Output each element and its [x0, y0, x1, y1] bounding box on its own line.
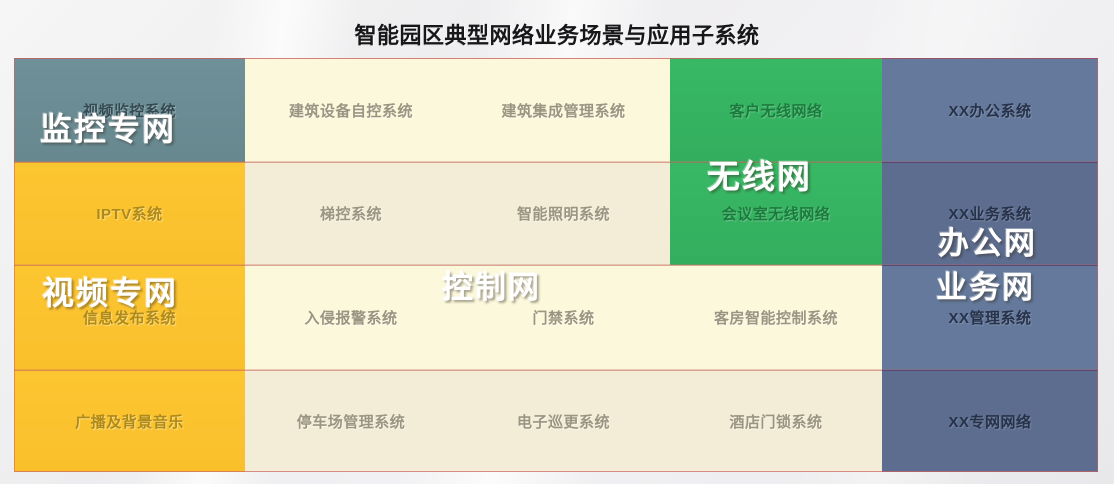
- matrix-cell: 梯控系统: [245, 162, 457, 265]
- matrix-cell: XX管理系统: [882, 265, 1098, 370]
- matrix-cell-label: XX业务系统: [948, 203, 1031, 224]
- matrix-cell: 客户无线网络: [670, 58, 882, 162]
- matrix-cell: 酒店门锁系统: [670, 370, 882, 472]
- matrix-cell-label: 广播及背景音乐: [75, 411, 184, 432]
- matrix-cell-label: 建筑集成管理系统: [501, 100, 625, 121]
- matrix-cell-label: 客房智能控制系统: [714, 307, 838, 328]
- matrix-cell-label: 客户无线网络: [729, 100, 822, 121]
- matrix-cell-label: 建筑设备自控系统: [289, 100, 413, 121]
- matrix-cell: 信息发布系统: [14, 265, 245, 370]
- matrix-cell: 电子巡更系统: [457, 370, 670, 472]
- subsystem-matrix: 视频监控系统建筑设备自控系统建筑集成管理系统客户无线网络XX办公系统IPTV系统…: [14, 58, 1098, 472]
- matrix-cell: XX办公系统: [882, 58, 1098, 162]
- matrix-cell-label: XX办公系统: [948, 100, 1031, 121]
- matrix-cell-label: 门禁系统: [532, 307, 594, 328]
- matrix-cell-label: 入侵报警系统: [304, 307, 397, 328]
- matrix-cell-label: 会议室无线网络: [722, 203, 831, 224]
- matrix-cell: 视频监控系统: [14, 58, 245, 162]
- matrix-cell: 广播及背景音乐: [14, 370, 245, 472]
- matrix-cell: 客房智能控制系统: [670, 265, 882, 370]
- matrix-cell: XX业务系统: [882, 162, 1098, 265]
- matrix-cell-label: 停车场管理系统: [297, 411, 406, 432]
- matrix-cell: 停车场管理系统: [245, 370, 457, 472]
- matrix-cell: 入侵报警系统: [245, 265, 457, 370]
- matrix-cell-label: 信息发布系统: [83, 307, 176, 328]
- matrix-cell-label: 电子巡更系统: [517, 411, 610, 432]
- matrix-cell: 会议室无线网络: [670, 162, 882, 265]
- matrix-cell-label: IPTV系统: [96, 203, 162, 224]
- matrix-cell-label: 酒店门锁系统: [729, 411, 822, 432]
- matrix-cell-label: 智能照明系统: [517, 203, 610, 224]
- matrix-cell-label: 梯控系统: [320, 203, 382, 224]
- matrix-cell-label: XX管理系统: [948, 307, 1031, 328]
- matrix-cell: IPTV系统: [14, 162, 245, 265]
- matrix-cell: 智能照明系统: [457, 162, 670, 265]
- matrix-cell: 建筑集成管理系统: [457, 58, 670, 162]
- page-title: 智能园区典型网络业务场景与应用子系统: [0, 18, 1114, 50]
- matrix-cell-label: 视频监控系统: [83, 100, 176, 121]
- matrix-cell-label: XX专网网络: [948, 411, 1031, 432]
- matrix-cell: 门禁系统: [457, 265, 670, 370]
- matrix-cell: 建筑设备自控系统: [245, 58, 457, 162]
- matrix-cell: XX专网网络: [882, 370, 1098, 472]
